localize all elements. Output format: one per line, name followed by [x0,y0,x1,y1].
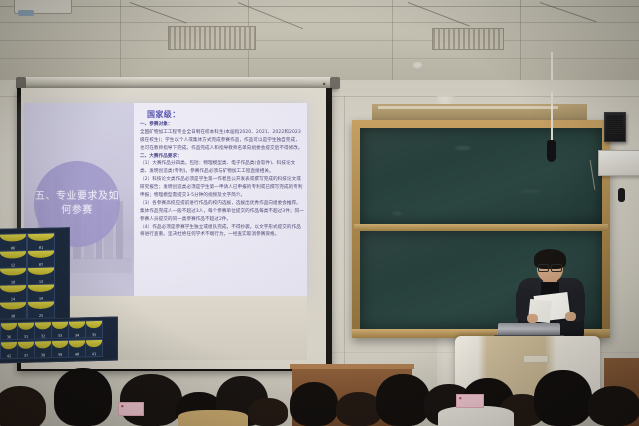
pocket-number: 41 [86,352,102,356]
pocket-number: 39 [52,353,68,357]
slide-para-5: （3）各参赛高校应提前进行作品的校内选拔，选拔出优秀作品向组委会推荐。集体作品完… [140,200,304,224]
student-head [534,370,592,426]
student-head [290,382,338,426]
phone-pocket-rack-lower: 36 31 32 33 34 35 42 37 38 39 40 [0,317,118,364]
slide-para-6: （4）作品必须是参赛学生独立或组队完成，不得抄袭。以文字形式提交的作品将进行查重… [140,224,304,240]
slide-para-2: 二、大赛作品要求： [140,153,304,161]
presenter-hand-right [565,312,576,321]
slide-section-label: 五、专业要求及如何参赛 [34,190,120,219]
rack-pocket: 33 [51,321,69,339]
pocket-number: 33 [52,334,68,338]
slide-para-3: （1）大赛作品分四类。包括：物理模型类、电子作品类(含软件)、科技论文类、发明创… [140,160,304,176]
microphone [618,188,625,202]
pocket-number: 38 [35,353,51,357]
pocket-number: 35 [86,333,102,337]
presenter-hand-left [527,314,538,323]
student-head [120,374,182,426]
slide-para-1: 全国矿物加工工程专业全日制在校本科生(本届指2020、2021、2022和202… [140,129,304,153]
rack-pocket: 42 [0,341,18,359]
rack-pocket: 06 [0,233,27,252]
rack-pocket: 35 [85,320,103,338]
ceiling-vent [168,26,256,50]
rack-pocket: 25 [27,301,55,320]
rack-pocket: 34 [68,320,86,338]
slide-para-4: （2）科技论文类作品必须是学生第一作者且公开发表或撰写完成的科技论文或研究报告；… [140,176,304,200]
classroom-scene: ◆ 五、专业要求及如何参赛 国家级： 一、参赛对象： 全国矿物加工工程专业全日制… [0,0,639,426]
lectern-badge [523,355,549,363]
student-head [54,368,112,426]
wall-speaker [604,112,626,142]
rack-pocket: 13 [27,267,55,286]
rack-pocket: 01 [27,233,55,252]
slide-title: 国家级： [147,109,181,120]
side-desk-edge [290,364,414,369]
student-shoulders [178,410,248,426]
rack-pocket: 31 [17,322,35,340]
rack-pocket: 18 [0,267,27,286]
ceiling-light-strip [378,106,558,109]
pocket-number: 42 [1,354,17,358]
roller-brand-label: ◆ [323,81,326,86]
student-shoulders [438,406,514,426]
pocket-number: 37 [18,354,34,358]
screen-edge-right [326,88,332,371]
slide-para-0: 一、参赛对象： [140,121,304,129]
smoke-detector [412,62,423,71]
pocket-number: 36 [1,335,17,339]
pocket-number: 31 [18,335,34,339]
student-head [376,374,430,426]
av-control-box[interactable] [598,150,639,176]
rack-pocket: 37 [17,341,35,359]
hanging-microphone [547,140,556,162]
student-head [0,386,46,426]
glasses-icon [538,264,562,270]
projector-lens [18,10,34,16]
desk-name-tag: ● [118,402,144,416]
blackboard-middle-rail [354,224,608,231]
pocket-number: 34 [69,333,85,337]
pocket-number: 32 [35,334,51,338]
rack-pocket: 19 [27,284,55,303]
hanging-microphone-cord [551,92,553,144]
slide-body-text: 一、参赛对象： 全国矿物加工工程专业全日制在校本科生(本届指2020、2021、… [140,121,304,239]
rack-pocket: 40 [68,339,86,357]
speaker-grille [607,115,623,135]
ceiling-vent [432,28,504,50]
rack-pocket: 39 [51,340,69,358]
rack-pocket: 32 [34,321,52,339]
rack-pocket: 36 [0,322,18,340]
pocket-number: 40 [69,352,85,356]
blackboard-panel-upper[interactable] [360,128,602,224]
student-head [588,386,639,426]
rack-pocket: 30 [0,301,27,320]
rack-pocket: 38 [34,340,52,358]
desk-name-tag: ● [456,394,484,408]
ceiling [0,0,639,86]
rack-pocket: 24 [0,284,27,303]
rack-pocket: 12 [0,250,27,269]
rack-pocket: 07 [27,250,55,269]
student-head [248,398,288,426]
rack-pocket: 41 [85,339,103,357]
